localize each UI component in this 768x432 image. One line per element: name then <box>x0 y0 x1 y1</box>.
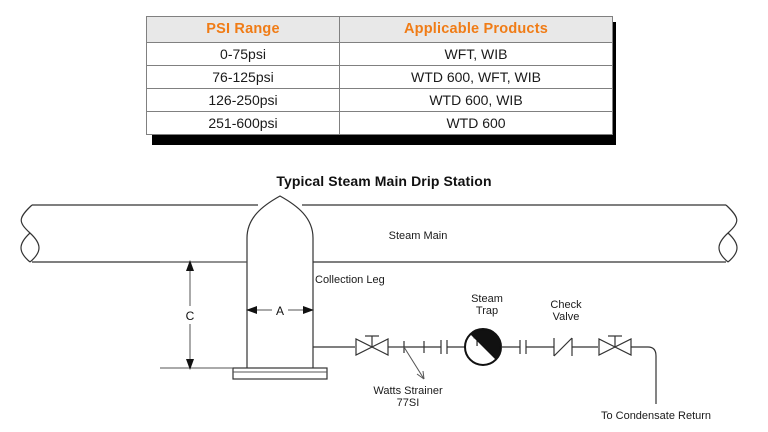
check-valve-disc <box>554 338 572 356</box>
steam-main-label: Steam Main <box>389 230 448 242</box>
gate-valve-2-left-body <box>599 339 615 355</box>
steam-trap-symbol-label: T <box>473 335 481 349</box>
cell-psi-range: 0-75psi <box>147 43 340 66</box>
table-row: 76-125psi WTD 600, WFT, WIB <box>147 66 613 89</box>
cell-products: WTD 600 <box>340 112 613 135</box>
table-header: PSI Range Applicable Products <box>147 17 613 43</box>
dim-c-label: C <box>186 309 195 323</box>
steam-trap-label-line1: Steam <box>471 293 503 305</box>
table-body: 0-75psi WFT, WIB 76-125psi WTD 600, WFT,… <box>147 43 613 135</box>
cell-products: WFT, WIB <box>340 43 613 66</box>
dim-a-arrowhead-right <box>303 306 314 314</box>
steam-drip-station-diagram: Typical Steam Main Drip Station Steam Ma… <box>0 160 768 432</box>
table-row: 0-75psi WFT, WIB <box>147 43 613 66</box>
table-row: 251-600psi WTD 600 <box>147 112 613 135</box>
steam-trap-label-line2: Trap <box>476 305 498 317</box>
cell-psi-range: 126-250psi <box>147 89 340 112</box>
collection-leg-base-flange <box>233 368 327 379</box>
dim-a-arrowhead-left <box>246 306 257 314</box>
strainer-leader-line <box>404 347 424 379</box>
check-valve-label-line2: Valve <box>553 311 580 323</box>
cell-products: WTD 600, WIB <box>340 89 613 112</box>
condensate-return-label: To Condensate Return <box>601 410 711 422</box>
check-valve-label-line1: Check <box>550 299 582 311</box>
gate-valve-1-left-body <box>356 339 372 355</box>
cell-psi-range: 251-600psi <box>147 112 340 135</box>
dim-a-label: A <box>276 304 284 318</box>
table-header-row: PSI Range Applicable Products <box>147 17 613 43</box>
psi-range-table: PSI Range Applicable Products 0-75psi WF… <box>146 16 613 135</box>
table-row: 126-250psi WTD 600, WIB <box>147 89 613 112</box>
column-header-psi-range: PSI Range <box>147 17 340 43</box>
condensate-return-line <box>631 347 656 404</box>
collection-leg-label: Collection Leg <box>315 274 385 286</box>
psi-range-table-container: PSI Range Applicable Products 0-75psi WF… <box>146 16 610 135</box>
steam-main-right-break-inner <box>728 233 737 262</box>
diagram-canvas: Steam Main C A Collection Leg <box>0 160 768 432</box>
steam-main-left-break-inner <box>21 233 30 262</box>
gate-valve-2-right-body <box>615 339 631 355</box>
column-header-applicable-products: Applicable Products <box>340 17 613 43</box>
screenshot-root: PSI Range Applicable Products 0-75psi WF… <box>0 0 768 432</box>
collection-leg-cap <box>247 196 313 262</box>
gate-valve-1-right-body <box>372 339 388 355</box>
strainer-label-line2: 77SI <box>397 397 420 409</box>
cell-products: WTD 600, WFT, WIB <box>340 66 613 89</box>
strainer-label-line1: Watts Strainer <box>373 385 443 397</box>
cell-psi-range: 76-125psi <box>147 66 340 89</box>
